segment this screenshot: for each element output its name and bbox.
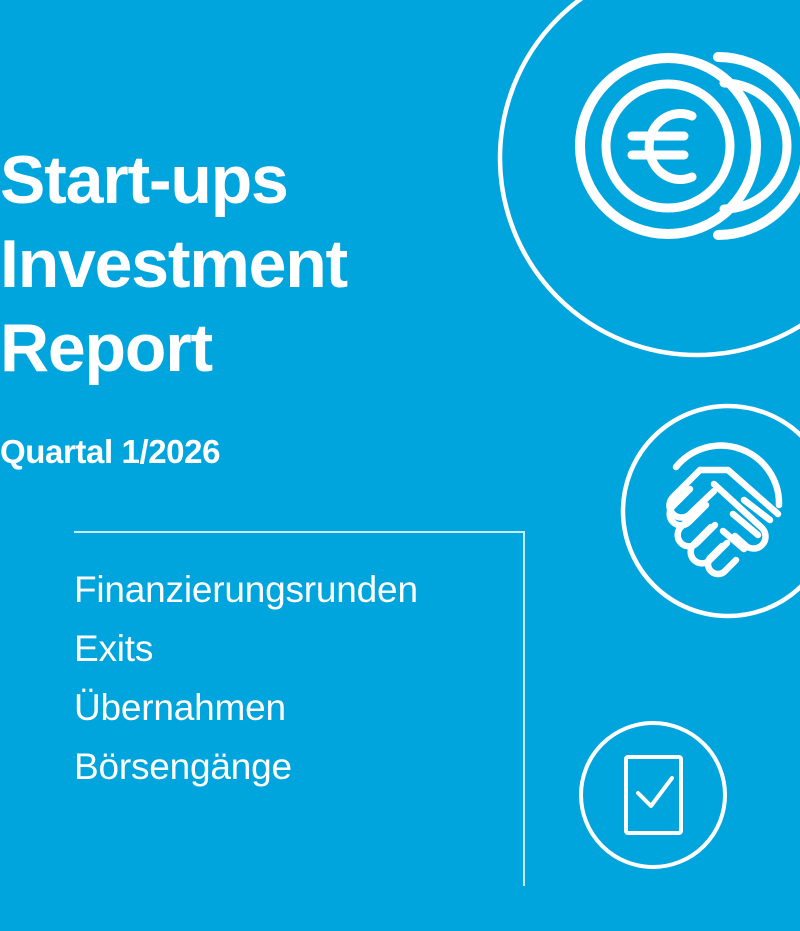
handshake-circle-icon [623, 406, 800, 616]
large-outline-circle [500, 0, 800, 355]
page-subtitle: Quartal 1/2026 [0, 432, 220, 472]
title-line-1: Start-ups [0, 138, 470, 222]
page-title: Start-ups Investment Report [0, 138, 470, 390]
report-cover-page: Start-ups Investment Report Quartal 1/20… [0, 0, 800, 931]
document-check-circle-icon [581, 723, 725, 867]
check-icon [638, 778, 672, 806]
list-item: Börsengänge [74, 737, 534, 796]
topic-list: Finanzierungsrunden Exits Übernahmen Bör… [74, 560, 534, 796]
list-item: Finanzierungsrunden [74, 560, 534, 619]
list-item: Exits [74, 619, 534, 678]
euro-symbol-icon [632, 113, 692, 179]
list-item: Übernahmen [74, 678, 534, 737]
document-outline-icon [626, 757, 681, 833]
title-line-3: Report [0, 306, 470, 390]
euro-coin-front-icon [580, 58, 756, 234]
handshake-icon [669, 446, 779, 574]
euro-coin-back-icon [718, 57, 800, 235]
title-line-2: Investment [0, 222, 470, 306]
